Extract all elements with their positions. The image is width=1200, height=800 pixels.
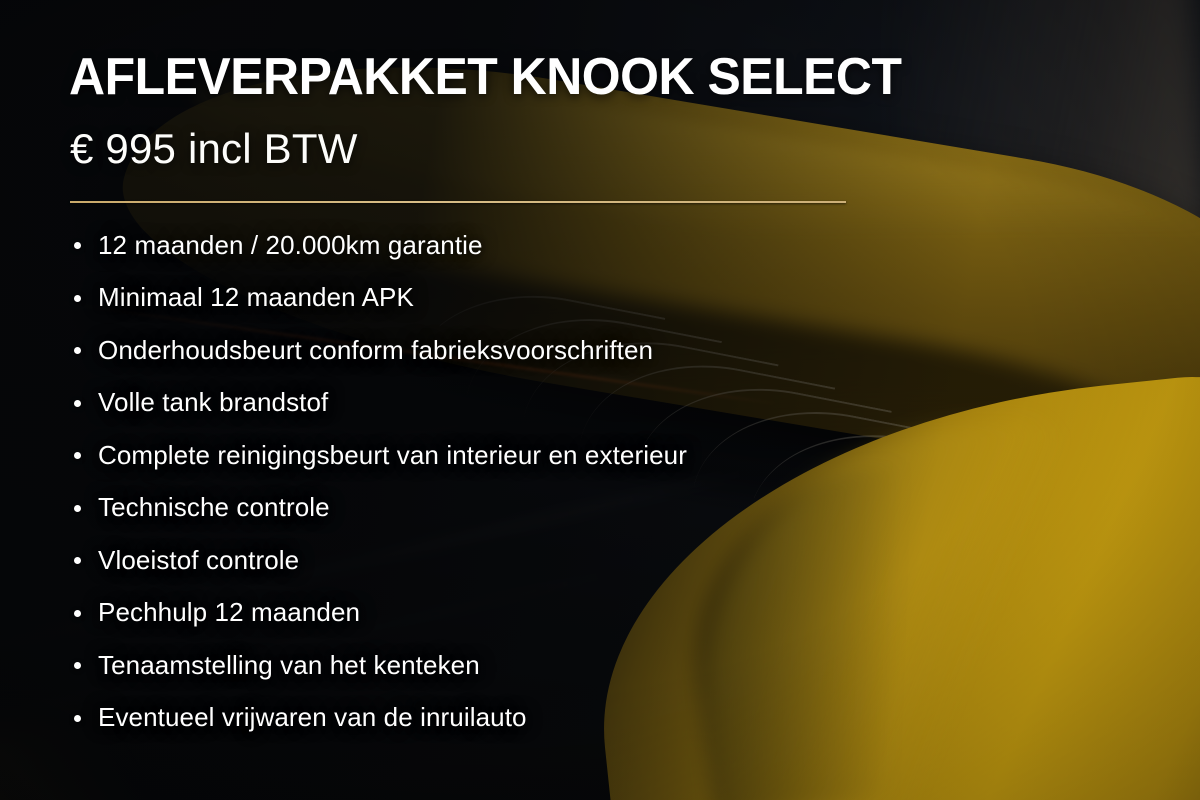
list-item: Onderhoudsbeurt conform fabrieksvoorschr… (70, 324, 687, 377)
bullet-dot-icon (74, 662, 81, 669)
bullet-dot-icon (74, 715, 81, 722)
bullet-dot-icon (74, 452, 81, 459)
list-item-label: 12 maanden / 20.000km garantie (98, 230, 483, 261)
bullet-dot-icon (74, 610, 81, 617)
bullet-dot-icon (74, 242, 81, 249)
list-item-label: Pechhulp 12 maanden (98, 597, 360, 628)
list-item-label: Vloeistof controle (98, 545, 299, 576)
list-item-label: Eventueel vrijwaren van de inruilauto (98, 702, 527, 733)
list-item: Technische controle (70, 482, 687, 535)
list-item: Tenaamstelling van het kenteken (70, 639, 687, 692)
list-item-label: Tenaamstelling van het kenteken (98, 650, 480, 681)
promo-slide: AFLEVERPAKKET KNOOK SELECT € 995 incl BT… (0, 0, 1200, 800)
gold-divider (70, 201, 846, 203)
list-item: Volle tank brandstof (70, 377, 687, 430)
bullet-dot-icon (74, 557, 81, 564)
bullet-dot-icon (74, 347, 81, 354)
list-item: Vloeistof controle (70, 534, 687, 587)
list-item-label: Technische controle (98, 492, 330, 523)
list-item-label: Onderhoudsbeurt conform fabrieksvoorschr… (98, 335, 653, 366)
slide-content: AFLEVERPAKKET KNOOK SELECT € 995 incl BT… (0, 0, 1200, 800)
bullet-dot-icon (74, 400, 81, 407)
price-subtitle: € 995 incl BTW (70, 126, 358, 172)
list-item: Minimaal 12 maanden APK (70, 272, 687, 325)
list-item-label: Volle tank brandstof (98, 387, 328, 418)
list-item: 12 maanden / 20.000km garantie (70, 219, 687, 272)
feature-list: 12 maanden / 20.000km garantie Minimaal … (70, 219, 687, 744)
bullet-dot-icon (74, 505, 81, 512)
bullet-dot-icon (74, 295, 81, 302)
page-title: AFLEVERPAKKET KNOOK SELECT (69, 50, 902, 104)
list-item: Pechhulp 12 maanden (70, 587, 687, 640)
list-item: Complete reinigingsbeurt van interieur e… (70, 429, 687, 482)
list-item-label: Complete reinigingsbeurt van interieur e… (98, 440, 687, 471)
list-item-label: Minimaal 12 maanden APK (98, 282, 414, 313)
list-item: Eventueel vrijwaren van de inruilauto (70, 692, 687, 745)
